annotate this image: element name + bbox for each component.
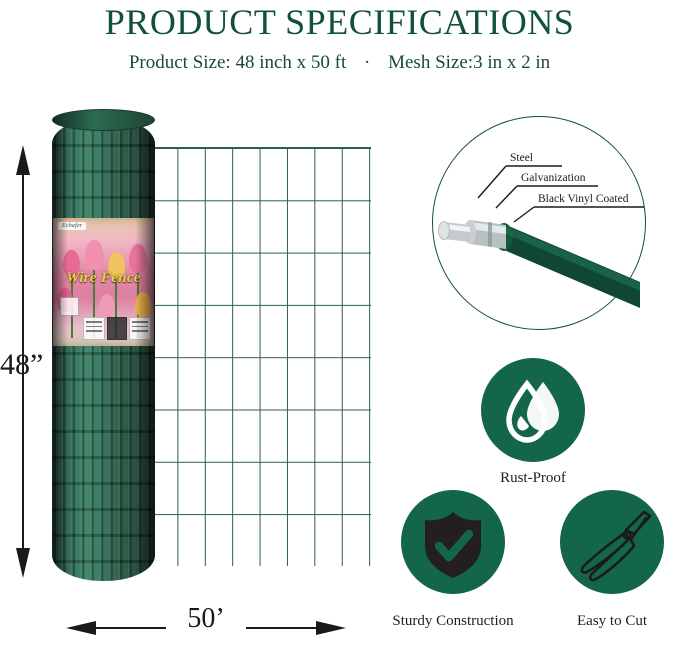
fence-mesh-illustration	[150, 147, 371, 566]
steel-core-layer	[439, 222, 471, 243]
feature-label-sturdy-construction: Sturdy Construction	[375, 613, 531, 630]
callout-label-steel: Steel	[510, 152, 533, 164]
tulip-flower	[99, 294, 115, 318]
wire-diagram	[426, 112, 674, 340]
feature-label-rust-proof: Rust-Proof	[461, 470, 605, 487]
mesh-grid	[150, 147, 371, 566]
roll-top-ellipse	[52, 109, 155, 131]
product-size-label: Product Size: 48 inch x 50 ft	[129, 52, 346, 73]
spec-separator: ·	[351, 52, 383, 74]
specs-subtitle: Product Size: 48 inch x 50 ft · Mesh Siz…	[0, 52, 679, 74]
arrow-head-right-icon	[316, 621, 346, 635]
shield-check-icon	[401, 490, 505, 594]
height-dimension-label: 48”	[0, 348, 60, 382]
tulip-flower	[85, 240, 104, 270]
callout-label-black-vinyl-coated: Black Vinyl Coated	[538, 193, 628, 205]
pliers-icon	[560, 490, 664, 594]
header: PRODUCT SPECIFICATIONS Product Size: 48 …	[0, 0, 679, 74]
leader-diagonal-galvanization	[496, 186, 517, 208]
galvanization-layer	[464, 220, 506, 249]
fence-roll-image: Echafer Wire Fence	[52, 118, 155, 581]
label-spec-box	[83, 317, 105, 340]
mesh-size-label: Mesh Size:3 in x 2 in	[388, 52, 550, 73]
feature-badge-rust-proof	[481, 358, 585, 462]
width-dimension-arrow: 50’	[66, 621, 346, 635]
roll-shadow-right	[135, 118, 155, 581]
roll-body: Echafer Wire Fence	[52, 118, 155, 581]
leader-diagonal-vinyl	[514, 207, 534, 222]
width-dimension-label: 50’	[166, 603, 246, 635]
feature-badge-easy-to-cut	[560, 490, 664, 594]
label-spec-box	[107, 317, 127, 340]
feature-badge-sturdy-construction	[401, 490, 505, 594]
leader-diagonal-steel	[478, 166, 506, 198]
wire-construction-callout: Steel Galvanization Black Vinyl Coated	[426, 112, 674, 340]
callout-label-galvanization: Galvanization	[521, 172, 586, 184]
water-drop-icon	[481, 358, 585, 462]
page-title: PRODUCT SPECIFICATIONS	[0, 0, 679, 42]
feature-label-easy-to-cut: Easy to Cut	[558, 613, 666, 630]
arrow-head-down-icon	[16, 548, 30, 578]
vinyl-coating-layer	[495, 223, 640, 308]
